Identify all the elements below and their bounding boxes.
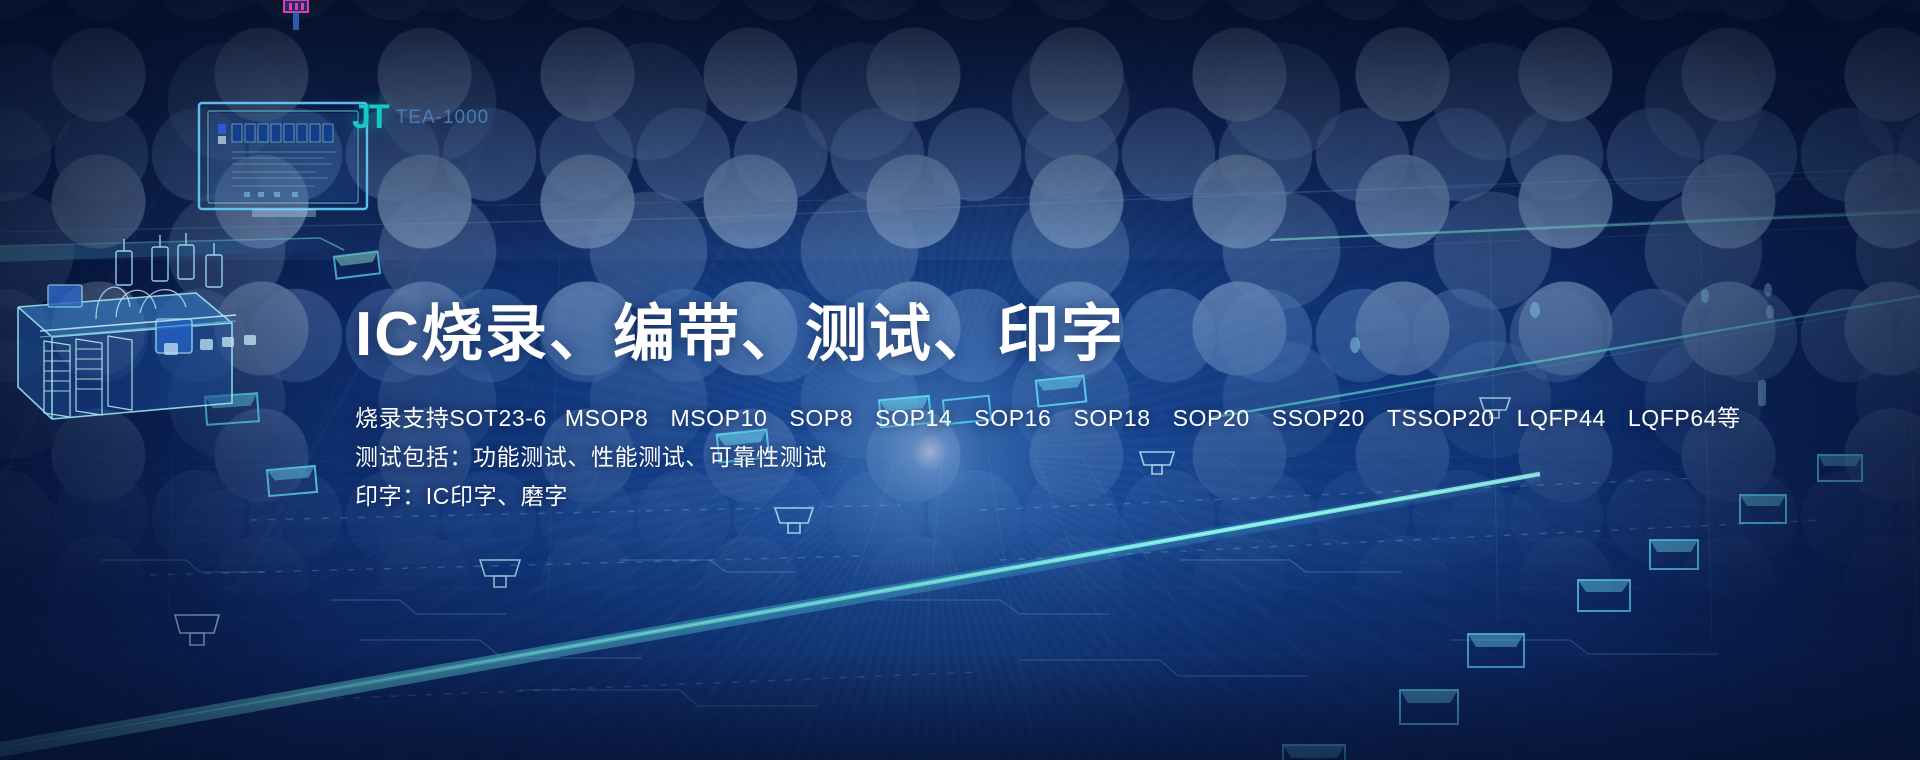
burn-in-machine xyxy=(0,215,300,475)
package-chip: SSOP20 xyxy=(1272,399,1365,438)
package-chip: LQFP44 xyxy=(1517,399,1606,438)
jt-logo-icon: JT xyxy=(352,100,388,134)
packages-line: 烧录支持SOT23-6 MSOP8 MSOP10 SOP8 SOP14 SOP1… xyxy=(355,399,1655,438)
package-chip: SOP14 xyxy=(875,399,952,438)
hero-banner: JT TEA-1000 IC烧录、编带、测试、印字 烧录支持SOT23-6 MS… xyxy=(0,0,1920,760)
package-chip: SOP16 xyxy=(974,399,1051,438)
package-chip: SOP20 xyxy=(1173,399,1250,438)
package-chip: TSSOP20 xyxy=(1387,399,1495,438)
page-title: IC烧录、编带、测试、印字 xyxy=(355,300,1655,369)
monitor-icon xyxy=(196,100,372,220)
package-chip: SOP18 xyxy=(1073,399,1150,438)
package-chip: MSOP10 xyxy=(670,399,767,438)
marking-line: 印字：IC印字、磨字 xyxy=(355,477,1655,516)
banner-content: IC烧录、编带、测试、印字 烧录支持SOT23-6 MSOP8 MSOP10 S… xyxy=(355,300,1655,516)
package-chip: SOP8 xyxy=(789,399,853,438)
package-chip: LQFP64等 xyxy=(1628,399,1741,438)
packages-row: 烧录支持SOT23-6 MSOP8 MSOP10 SOP8 SOP14 SOP1… xyxy=(355,399,1655,438)
ceiling-marker-icon xyxy=(276,0,316,30)
package-chip: MSOP8 xyxy=(565,399,649,438)
machine-model-label: TEA-1000 xyxy=(396,108,490,127)
testing-line: 测试包括：功能测试、性能测试、可靠性测试 xyxy=(355,438,1655,477)
service-detail-list: 烧录支持SOT23-6 MSOP8 MSOP10 SOP8 SOP14 SOP1… xyxy=(355,399,1655,516)
packages-lead-label: 烧录支持SOT23-6 xyxy=(355,399,547,438)
brand-lockup: JT TEA-1000 xyxy=(352,100,489,134)
